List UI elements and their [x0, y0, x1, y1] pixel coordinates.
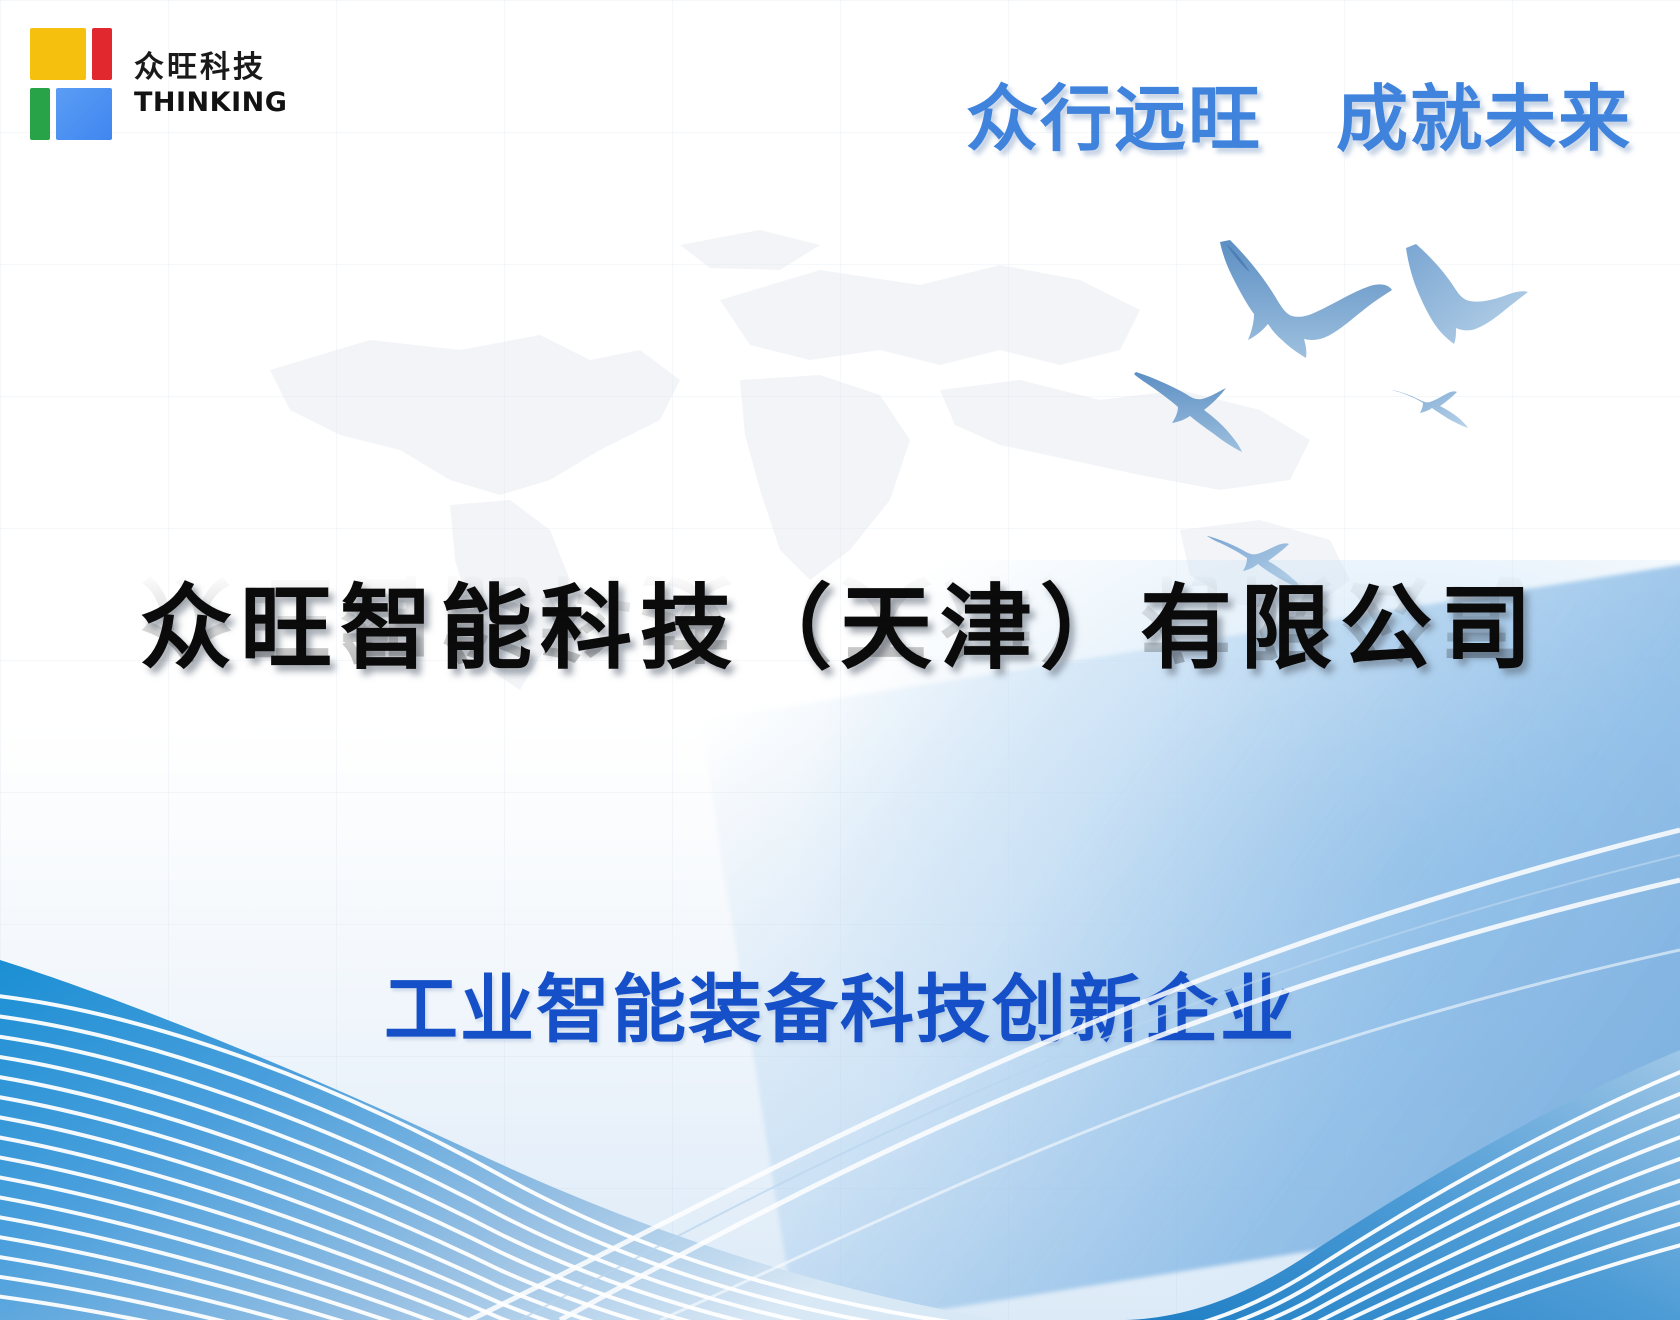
page-title-reflection: 众旺智能科技（天津）有限公司 — [0, 561, 1680, 670]
flying-seagulls-icon — [1130, 200, 1560, 620]
logo-name-en: THINKING — [134, 89, 287, 116]
seagull-1 — [1220, 240, 1392, 358]
logo-mark-icon — [30, 28, 112, 140]
slide-slogan: 众行远旺 成就未来 — [966, 60, 1632, 165]
seagull-3 — [1134, 372, 1242, 452]
logo-square-red — [92, 28, 112, 80]
company-logo[interactable]: 众旺科技 THINKING — [30, 28, 287, 140]
logo-square-blue — [56, 88, 112, 140]
logo-name-cn: 众旺科技 — [134, 53, 287, 83]
title-block: 众旺智能科技（天津）有限公司 众旺智能科技（天津）有限公司 — [0, 575, 1680, 778]
logo-square-green — [30, 88, 50, 140]
seagull-4 — [1391, 390, 1468, 428]
sweeping-arc-lines — [0, 760, 1680, 1320]
seagull-2 — [1406, 244, 1528, 344]
logo-square-yellow — [30, 28, 86, 80]
presentation-slide: 众旺科技 THINKING 众行远旺 成就未来 — [0, 0, 1680, 1320]
logo-wordmark: 众旺科技 THINKING — [134, 53, 287, 116]
